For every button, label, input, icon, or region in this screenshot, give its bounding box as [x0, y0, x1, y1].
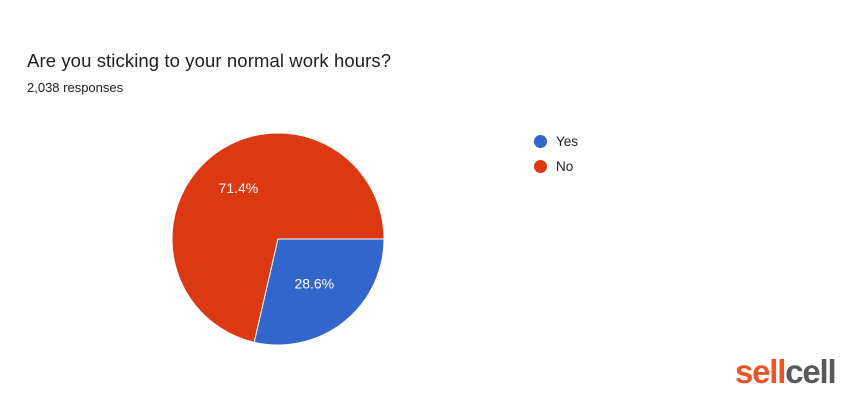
circle-swatch-icon: [534, 160, 547, 173]
legend-item-label: No: [556, 160, 573, 174]
legend-item-no[interactable]: No: [534, 156, 578, 177]
pie-slice-label-yes: 28.6%: [294, 275, 334, 291]
pie-chart: 71.4% 28.6%: [172, 133, 384, 345]
chart-legend: Yes No: [534, 131, 578, 181]
legend-item-yes[interactable]: Yes: [534, 131, 578, 152]
sellcell-logo: sellcell: [735, 353, 836, 391]
logo-text-secondary: cell: [785, 353, 835, 390]
pie-chart-svg: 71.4% 28.6%: [172, 133, 384, 345]
page-title: Are you sticking to your normal work hou…: [27, 50, 391, 72]
chart-screenshot: Are you sticking to your normal work hou…: [0, 0, 850, 404]
legend-item-label: Yes: [556, 135, 578, 149]
pie-slice-label-no: 71.4%: [219, 180, 259, 196]
response-count: 2,038 responses: [27, 80, 123, 96]
circle-swatch-icon: [534, 135, 547, 148]
logo-text-primary: sell: [735, 353, 785, 390]
